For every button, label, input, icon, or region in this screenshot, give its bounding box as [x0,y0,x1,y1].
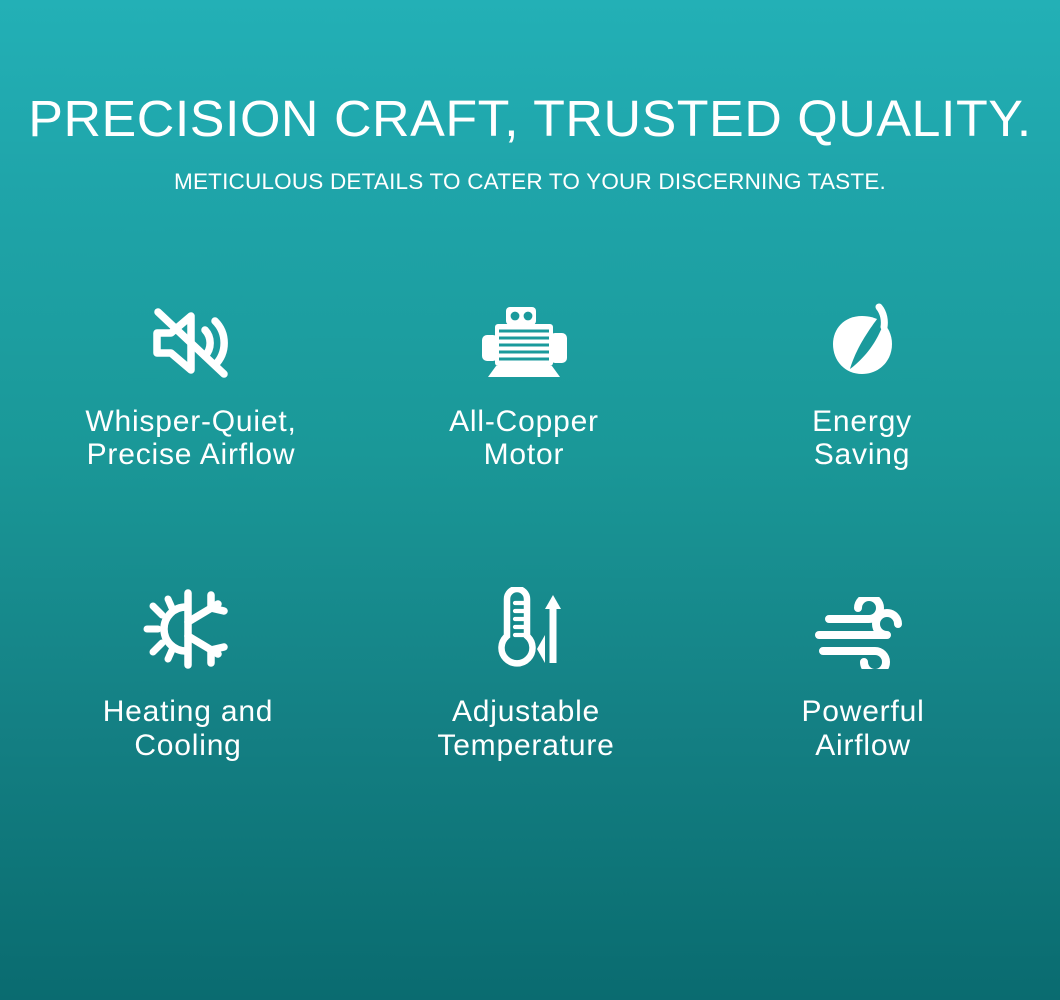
mute-speaker-icon [145,303,237,383]
feature-item-heating-cooling: Heating and Cooling [20,589,356,763]
feature-banner: PRECISION CRAFT, TRUSTED QUALITY. METICU… [0,0,1060,1000]
feature-label: All-Copper Motor [449,405,599,473]
electric-motor-icon [476,303,572,383]
feature-label: Powerful Airflow [801,695,924,763]
banner-header: PRECISION CRAFT, TRUSTED QUALITY. METICU… [0,0,1060,195]
headline: PRECISION CRAFT, TRUSTED QUALITY. [0,92,1060,146]
feature-item-whisper-quiet: Whisper-Quiet, Precise Airflow [23,303,359,473]
thermometer-arrows-icon [483,589,569,669]
feature-item-powerful-airflow: Powerful Airflow [695,589,1031,763]
leaf-icon [822,303,902,383]
subheadline: METICULOUS DETAILS TO CATER TO YOUR DISC… [0,169,1060,195]
feature-row: Heating and Cooling [26,589,1034,763]
feature-grid: Whisper-Quiet, Precise Airflow [0,195,1060,1000]
feature-item-energy-saving: Energy Saving [694,303,1030,473]
feature-row: Whisper-Quiet, Precise Airflow [26,303,1034,473]
feature-label: Energy Saving [812,405,912,473]
feature-label: Adjustable Temperature [437,695,614,763]
feature-label: Whisper-Quiet, Precise Airflow [85,405,296,473]
feature-item-adjustable-temperature: Adjustable Temperature [358,589,694,763]
sun-snowflake-icon [142,589,234,669]
feature-label: Heating and Cooling [103,695,274,763]
feature-item-all-copper-motor: All-Copper Motor [356,303,692,473]
wind-icon [813,589,913,669]
